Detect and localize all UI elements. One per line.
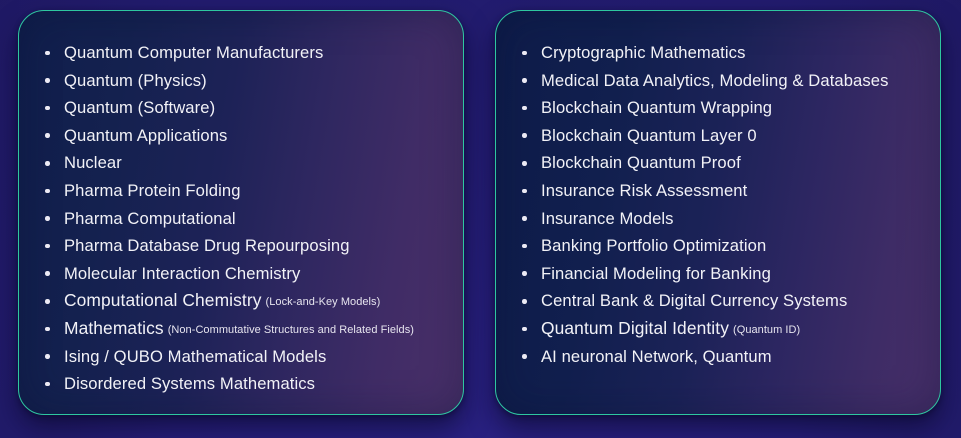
list-item-label: AI neuronal Network, Quantum [541, 347, 772, 366]
list-item: Blockchain Quantum Proof [522, 149, 926, 177]
list-item-label: Computational Chemistry [64, 290, 262, 310]
bullet-icon [45, 327, 50, 332]
list-item-label: Pharma Computational [64, 209, 236, 228]
list-item-label: Mathematics [64, 318, 164, 338]
list-item-label: Insurance Models [541, 209, 674, 228]
list-item-note: (Quantum ID) [733, 324, 800, 336]
topic-card-right-content: Cryptographic MathematicsMedical Data An… [496, 11, 940, 414]
bullet-icon [522, 133, 527, 138]
bullet-icon [522, 189, 527, 194]
topic-list-left: Quantum Computer ManufacturersQuantum (P… [45, 39, 449, 398]
list-item: Nuclear [45, 149, 449, 177]
list-item: Quantum (Physics) [45, 67, 449, 95]
bullet-icon [522, 161, 527, 166]
list-item: Quantum (Software) [45, 94, 449, 122]
list-item-label: Banking Portfolio Optimization [541, 236, 766, 255]
bullet-icon [522, 106, 527, 111]
bullet-icon [522, 216, 527, 221]
list-item: Pharma Database Drug Repourposing [45, 232, 449, 260]
bullet-icon [45, 51, 50, 56]
bullet-icon [522, 354, 527, 359]
list-item-label: Nuclear [64, 153, 122, 172]
bullet-icon [45, 382, 50, 387]
list-item-label: Quantum (Physics) [64, 71, 207, 90]
list-item-label: Molecular Interaction Chemistry [64, 264, 300, 283]
list-item: Cryptographic Mathematics [522, 39, 926, 67]
bullet-icon [45, 161, 50, 166]
list-item: Insurance Risk Assessment [522, 177, 926, 205]
list-item-label: Quantum Digital Identity [541, 318, 729, 338]
slide-canvas: Quantum Computer ManufacturersQuantum (P… [0, 0, 961, 438]
list-item-label: Central Bank & Digital Currency Systems [541, 291, 847, 310]
list-item: Ising / QUBO Mathematical Models [45, 343, 449, 371]
list-item: Medical Data Analytics, Modeling & Datab… [522, 67, 926, 95]
list-item-label: Blockchain Quantum Proof [541, 153, 741, 172]
bullet-icon [45, 244, 50, 249]
bullet-icon [45, 299, 50, 304]
list-item: Computational Chemistry(Lock-and-Key Mod… [45, 287, 449, 315]
list-item-label: Quantum Computer Manufacturers [64, 43, 323, 62]
bullet-icon [522, 271, 527, 276]
bullet-icon [522, 244, 527, 249]
list-item: Banking Portfolio Optimization [522, 232, 926, 260]
bullet-icon [45, 271, 50, 276]
topic-card-group: Quantum Computer ManufacturersQuantum (P… [0, 0, 961, 438]
list-item: Mathematics(Non-Commutative Structures a… [45, 315, 449, 343]
list-item: Blockchain Quantum Wrapping [522, 94, 926, 122]
list-item-label: Quantum Applications [64, 126, 227, 145]
list-item-label: Disordered Systems Mathematics [64, 374, 315, 393]
list-item-note: (Lock-and-Key Models) [266, 296, 381, 308]
topic-card-left: Quantum Computer ManufacturersQuantum (P… [18, 10, 464, 415]
list-item: Financial Modeling for Banking [522, 260, 926, 288]
list-item: AI neuronal Network, Quantum [522, 343, 926, 371]
list-item-label: Financial Modeling for Banking [541, 264, 771, 283]
bullet-icon [45, 133, 50, 138]
bullet-icon [45, 354, 50, 359]
list-item: Quantum Digital Identity(Quantum ID) [522, 315, 926, 343]
list-item: Pharma Protein Folding [45, 177, 449, 205]
bullet-icon [45, 216, 50, 221]
list-item-note: (Non-Commutative Structures and Related … [168, 324, 414, 336]
bullet-icon [522, 78, 527, 83]
list-item: Quantum Computer Manufacturers [45, 39, 449, 67]
bullet-icon [45, 106, 50, 111]
list-item: Molecular Interaction Chemistry [45, 260, 449, 288]
topic-card-right: Cryptographic MathematicsMedical Data An… [495, 10, 941, 415]
list-item-label: Blockchain Quantum Wrapping [541, 98, 772, 117]
bullet-icon [522, 327, 527, 332]
list-item: Insurance Models [522, 205, 926, 233]
bullet-icon [45, 78, 50, 83]
bullet-icon [522, 51, 527, 56]
list-item-label: Cryptographic Mathematics [541, 43, 745, 62]
list-item-label: Medical Data Analytics, Modeling & Datab… [541, 71, 889, 90]
list-item-label: Blockchain Quantum Layer 0 [541, 126, 757, 145]
list-item-label: Quantum (Software) [64, 98, 215, 117]
topic-list-right: Cryptographic MathematicsMedical Data An… [522, 39, 926, 370]
list-item-label: Pharma Database Drug Repourposing [64, 236, 350, 255]
list-item: Blockchain Quantum Layer 0 [522, 122, 926, 150]
topic-card-left-content: Quantum Computer ManufacturersQuantum (P… [19, 11, 463, 414]
list-item: Pharma Computational [45, 205, 449, 233]
list-item: Quantum Applications [45, 122, 449, 150]
list-item-label: Pharma Protein Folding [64, 181, 241, 200]
bullet-icon [522, 299, 527, 304]
list-item-label: Insurance Risk Assessment [541, 181, 747, 200]
bullet-icon [45, 189, 50, 194]
list-item-label: Ising / QUBO Mathematical Models [64, 347, 326, 366]
list-item: Central Bank & Digital Currency Systems [522, 287, 926, 315]
list-item: Disordered Systems Mathematics [45, 370, 449, 398]
